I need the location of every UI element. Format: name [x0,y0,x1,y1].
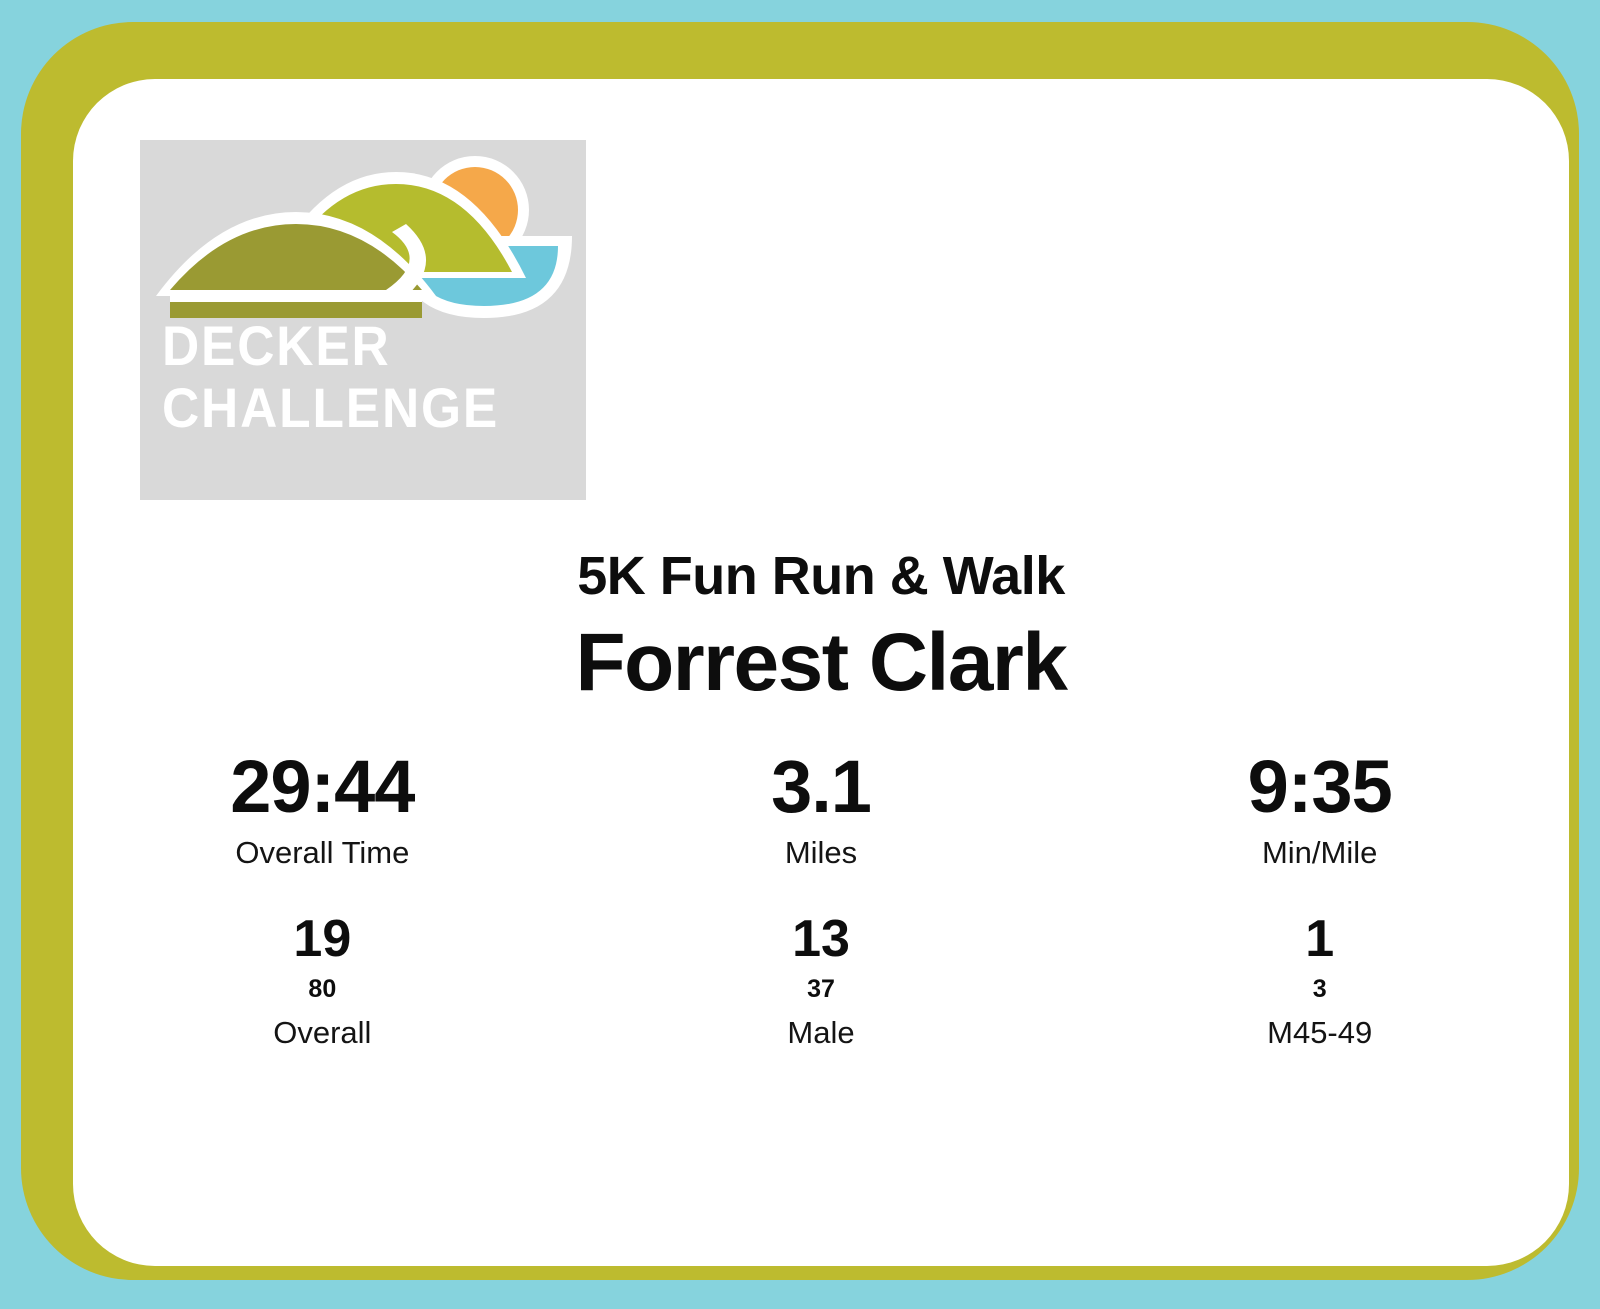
athlete-name: Forrest Clark [73,616,1569,710]
rank-gender: 13 37 Male [572,909,1071,1057]
primary-stats-row: 29:44 Overall Time 3.1 Miles 9:35 Min/Mi… [73,744,1569,876]
logo-wordmark: DECKER CHALLENGE [162,315,562,439]
stat-overall-time: 29:44 Overall Time [73,744,572,876]
decker-challenge-logo: DECKER CHALLENGE [140,140,586,500]
rank-total: 80 [73,969,572,1009]
rank-overall: 19 80 Overall [73,909,572,1057]
stat-value: 3.1 [572,744,1071,830]
rank-place: 19 [73,909,572,969]
rank-label: M45-49 [1070,1009,1569,1057]
rank-place: 1 [1070,909,1569,969]
stat-label: Overall Time [73,830,572,876]
stat-pace: 9:35 Min/Mile [1070,744,1569,876]
result-card: DECKER CHALLENGE 5K Fun Run & Walk Forre… [73,79,1569,1266]
rank-label: Overall [73,1009,572,1057]
logo-mark-icon [148,150,578,330]
rank-age-group: 1 3 M45-49 [1070,909,1569,1057]
stat-value: 9:35 [1070,744,1569,830]
stat-value: 29:44 [73,744,572,830]
stat-miles: 3.1 Miles [572,744,1071,876]
rank-total: 37 [572,969,1071,1009]
rank-place: 13 [572,909,1071,969]
rank-total: 3 [1070,969,1569,1009]
rank-label: Male [572,1009,1071,1057]
card-outer-frame: DECKER CHALLENGE 5K Fun Run & Walk Forre… [21,22,1579,1280]
race-result-card-page: DECKER CHALLENGE 5K Fun Run & Walk Forre… [0,0,1600,1309]
ranking-stats-row: 19 80 Overall 13 37 Male 1 3 M45-49 [73,909,1569,1057]
logo-wordmark-line-1: DECKER [162,315,530,377]
stat-label: Miles [572,830,1071,876]
event-title: 5K Fun Run & Walk [73,545,1569,607]
stat-label: Min/Mile [1070,830,1569,876]
logo-wordmark-line-2: CHALLENGE [162,377,530,439]
hill-base-gap-icon [170,296,422,302]
